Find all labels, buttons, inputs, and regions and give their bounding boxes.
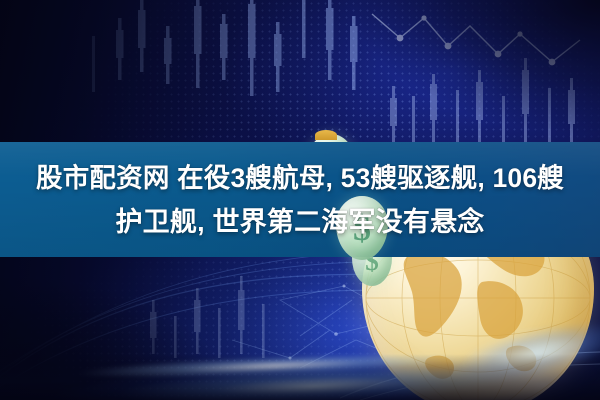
headline-line-2: 护卫舰, 世界第二海军没有悬念: [115, 202, 484, 242]
coin-egg-cap: [315, 130, 337, 140]
bottom-fade: [0, 354, 600, 400]
headline-line-1: 股市配资网 在役3艘航母, 53艘驱逐舰, 106艘: [36, 158, 564, 198]
thumbnail-image: $ $ $ 股市配资网 在役3艘航母, 53艘驱逐舰, 106艘 护卫舰, 世界…: [0, 0, 600, 400]
headline-text: 股市配资网 在役3艘航母, 53艘驱逐舰, 106艘 护卫舰, 世界第二海军没有…: [0, 142, 600, 257]
